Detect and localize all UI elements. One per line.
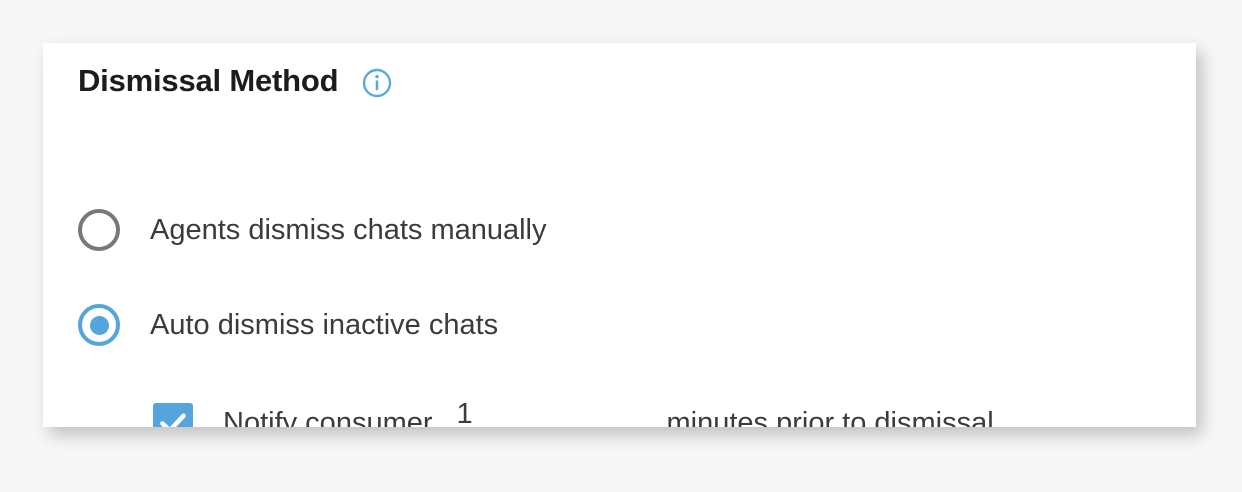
notify-consumer-checkbox[interactable]	[153, 403, 193, 428]
notify-consumer-row: Notify consumer minutes prior to dismiss…	[153, 396, 994, 427]
notify-minutes-input[interactable]	[455, 396, 641, 427]
radio-option-manual-label: Agents dismiss chats manually	[150, 209, 547, 251]
card-header: Dismissal Method	[78, 61, 392, 101]
radio-button-manual[interactable]	[78, 209, 120, 251]
radio-option-manual[interactable]: Agents dismiss chats manually	[78, 209, 547, 251]
notify-consumer-label: Notify consumer	[223, 402, 433, 428]
radio-option-auto-label: Auto dismiss inactive chats	[150, 304, 498, 346]
radio-button-auto[interactable]	[78, 304, 120, 346]
settings-screen: Dismissal Method Agents dismiss chats ma…	[0, 0, 1242, 492]
page-title: Dismissal Method	[78, 61, 338, 101]
checkmark-icon	[153, 403, 193, 428]
dismissal-method-card: Dismissal Method Agents dismiss chats ma…	[43, 43, 1196, 427]
notify-minutes-suffix-label: minutes prior to dismissal	[667, 402, 994, 428]
info-circle-icon[interactable]	[362, 68, 392, 98]
radio-option-auto[interactable]: Auto dismiss inactive chats	[78, 304, 498, 346]
